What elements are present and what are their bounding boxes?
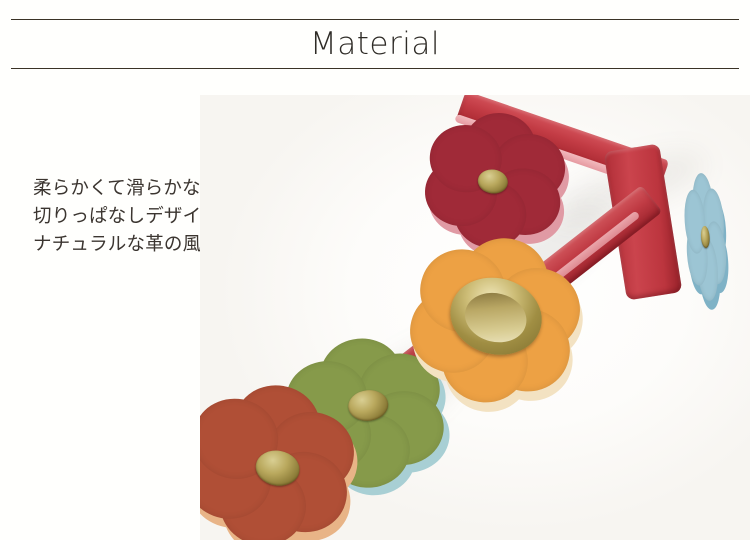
product-photo bbox=[200, 95, 750, 540]
flower-dark-red bbox=[495, 180, 496, 181]
material-section: Material 柔らかくて滑らかな牛革を使用しています。 切りっぱなしデザイン… bbox=[0, 0, 750, 540]
flower-green bbox=[365, 413, 366, 414]
header-rule-bottom bbox=[11, 68, 739, 69]
flower-orange bbox=[495, 320, 496, 321]
section-header: Material bbox=[0, 0, 750, 80]
header-rule-top bbox=[11, 19, 739, 20]
page-title: Material bbox=[0, 21, 750, 67]
flower-terracotta bbox=[270, 465, 271, 466]
